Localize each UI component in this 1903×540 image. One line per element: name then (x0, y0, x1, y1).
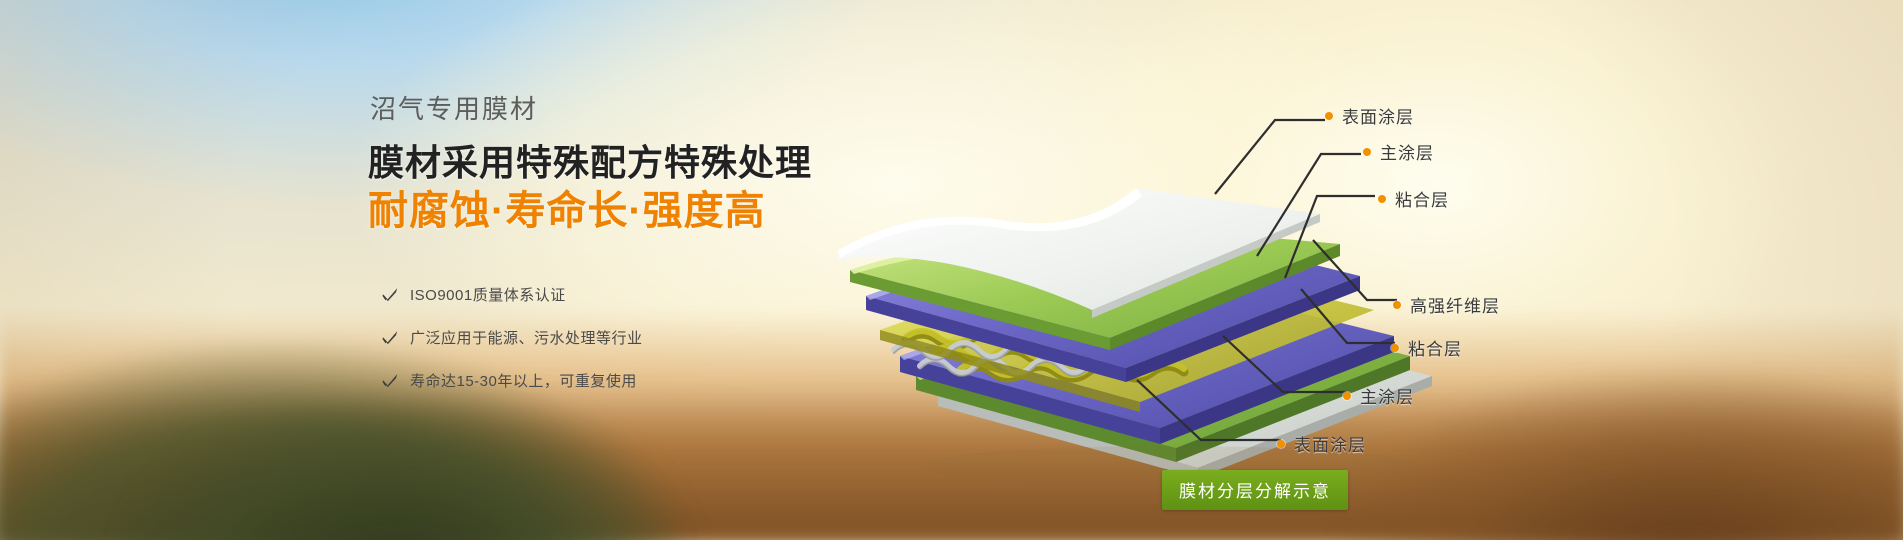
leader-line-7 (1135, 378, 1285, 444)
bullet-dot-icon (1391, 344, 1399, 352)
callout-label-1: 表面涂层 (1325, 103, 1414, 128)
callout-label-4: 高强纤维层 (1393, 292, 1500, 317)
diagram-badge: 膜材分层分解示意 (1162, 470, 1348, 510)
leader-line-4 (1311, 238, 1401, 306)
callout-text: 表面涂层 (1294, 431, 1366, 456)
callout-text: 主涂层 (1380, 139, 1434, 164)
leader-line-3 (1283, 190, 1379, 280)
bullet-dot-icon (1393, 301, 1401, 309)
leader-line-6 (1221, 334, 1351, 396)
callout-label-7: 表面涂层 (1277, 431, 1366, 456)
leader-line-2 (1255, 146, 1365, 258)
callout-text: 粘合层 (1408, 335, 1462, 360)
bullet-dot-icon (1325, 112, 1333, 120)
callout-text: 粘合层 (1395, 186, 1449, 211)
callout-text: 表面涂层 (1342, 103, 1414, 128)
hero-banner: 沼气专用膜材 膜材采用特殊配方特殊处理 耐腐蚀·寿命长·强度高 ISO9001质… (0, 0, 1903, 540)
callout-label-5: 粘合层 (1391, 335, 1462, 360)
bullet-dot-icon (1277, 440, 1285, 448)
callout-label-2: 主涂层 (1363, 139, 1434, 164)
bullet-dot-icon (1363, 148, 1371, 156)
callout-text: 主涂层 (1360, 383, 1414, 408)
leader-line-1 (1213, 108, 1333, 196)
bullet-dot-icon (1343, 392, 1351, 400)
callout-group: 表面涂层 主涂层 粘合层 高强纤维层 粘合层 主涂层 表面涂层 膜材分层分解示意 (0, 0, 1903, 540)
bullet-dot-icon (1378, 195, 1386, 203)
callout-label-6: 主涂层 (1343, 383, 1414, 408)
leader-line-5 (1299, 287, 1399, 347)
callout-text: 高强纤维层 (1410, 292, 1500, 317)
callout-label-3: 粘合层 (1378, 186, 1449, 211)
